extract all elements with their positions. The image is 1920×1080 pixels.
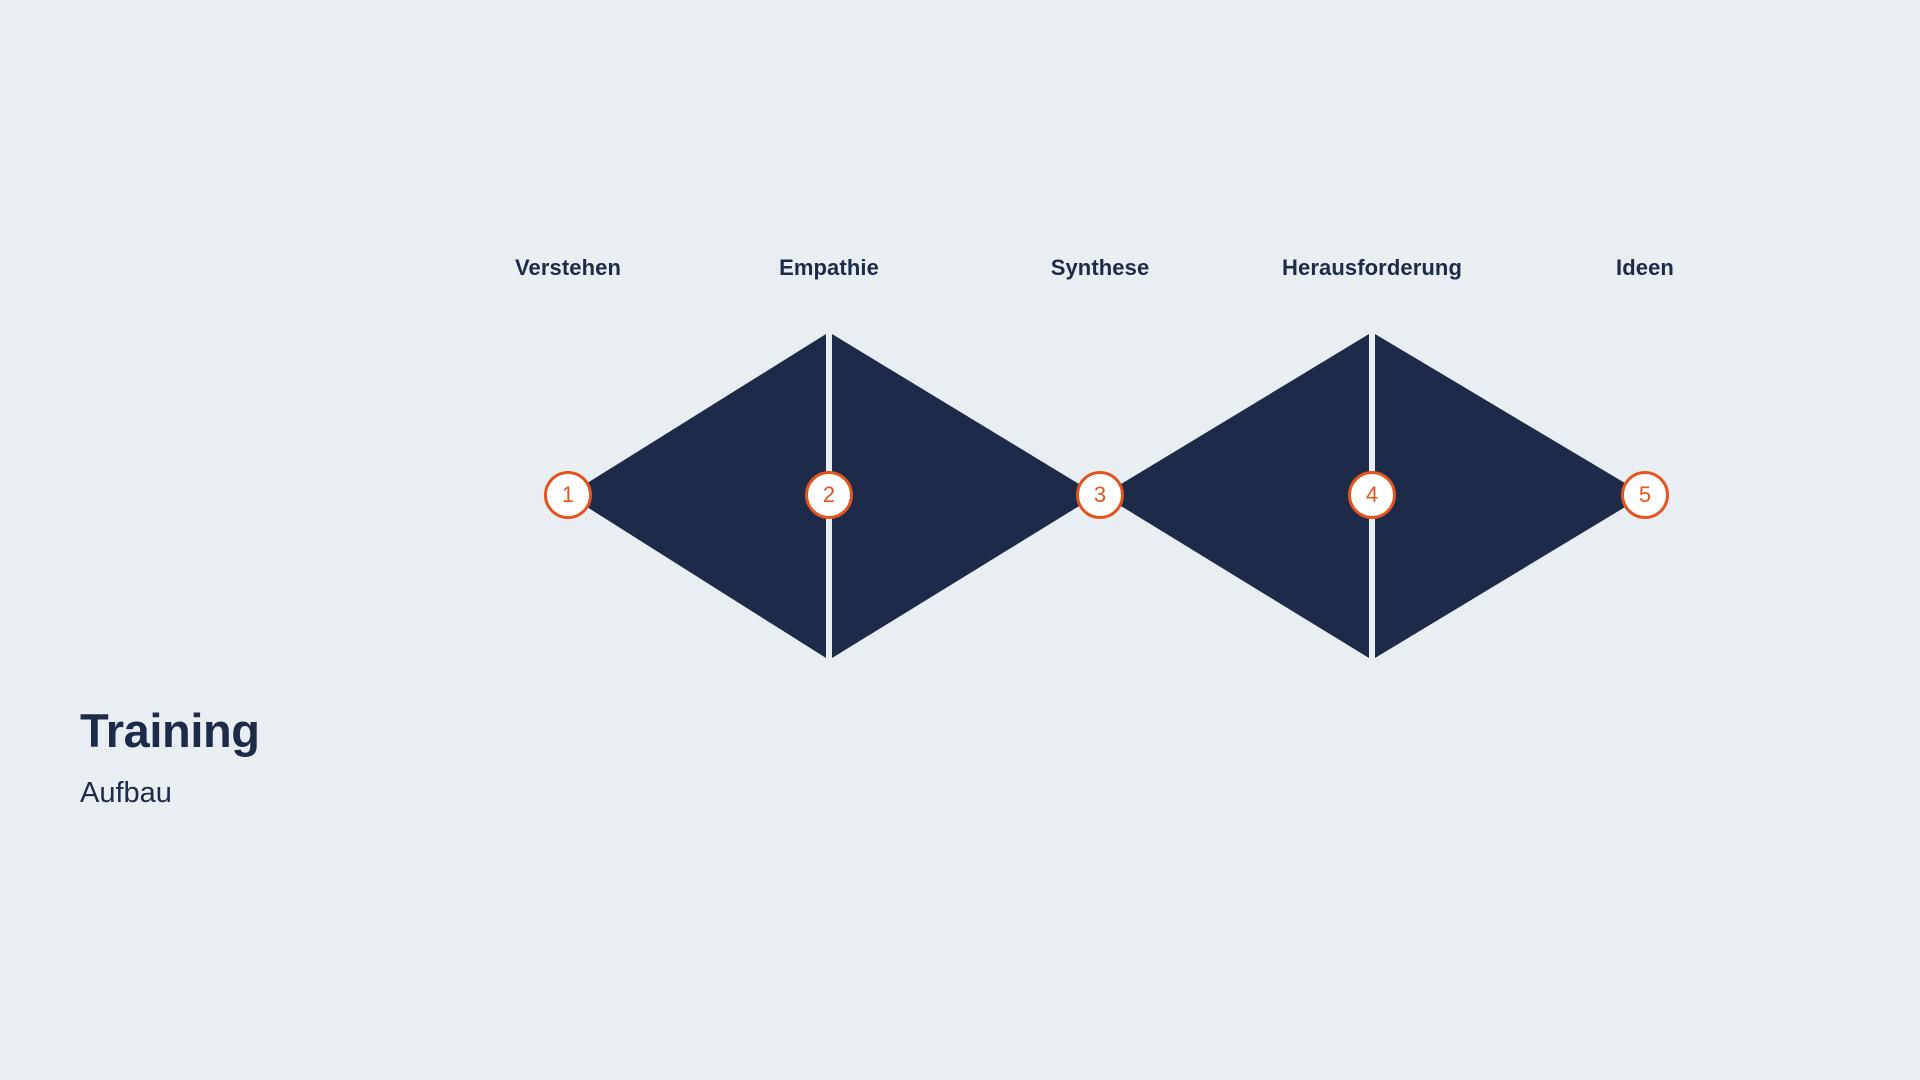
phase-label-empathie: Empathie <box>779 257 879 279</box>
diamond-2-right-half <box>1375 334 1645 658</box>
step-node-4[interactable]: 4 <box>1348 471 1396 519</box>
diamond-2-left-half <box>1103 334 1369 658</box>
step-node-2-number: 2 <box>823 484 835 506</box>
page-title: Training <box>80 706 260 755</box>
diamond-1-left-half <box>568 334 826 658</box>
step-node-4-number: 4 <box>1366 484 1378 506</box>
step-node-5[interactable]: 5 <box>1621 471 1669 519</box>
slide-canvas: Verstehen Empathie Synthese Herausforder… <box>0 0 1920 1080</box>
step-node-2[interactable]: 2 <box>805 471 853 519</box>
step-node-3[interactable]: 3 <box>1076 471 1124 519</box>
phase-label-synthese: Synthese <box>1051 257 1150 279</box>
phase-label-herausforderung: Herausforderung <box>1282 257 1462 279</box>
step-node-1[interactable]: 1 <box>544 471 592 519</box>
double-diamond-diagram: Verstehen Empathie Synthese Herausforder… <box>0 0 1920 1080</box>
step-node-1-number: 1 <box>562 484 574 506</box>
phase-label-ideen: Ideen <box>1616 257 1674 279</box>
step-node-3-number: 3 <box>1094 484 1106 506</box>
page-subtitle: Aufbau <box>80 778 260 810</box>
caption-block: Training Aufbau <box>80 706 260 810</box>
phase-label-verstehen: Verstehen <box>515 257 621 279</box>
step-node-5-number: 5 <box>1639 484 1651 506</box>
diamond-1-right-half <box>832 334 1097 658</box>
diamond-shapes <box>0 0 1920 1080</box>
